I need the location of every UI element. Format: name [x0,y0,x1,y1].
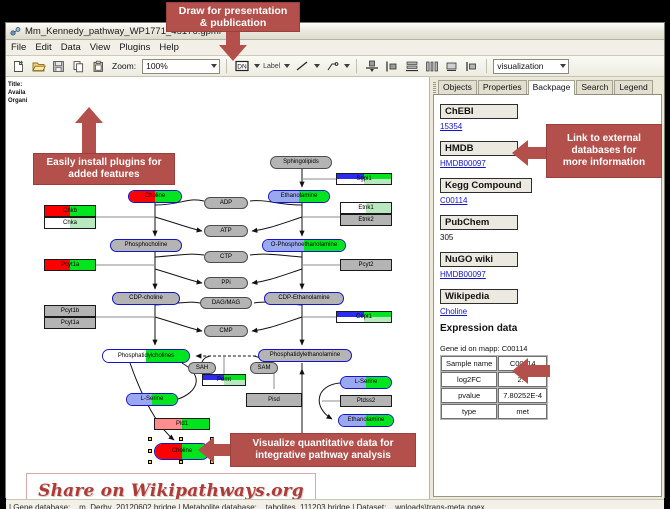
node-label: Ptdss2 [357,398,375,405]
link-callout-arrow-icon [512,140,550,166]
table-cell-key: log2FC [441,372,497,387]
pathway-gene-node[interactable]: Pcyt1b [44,305,96,317]
group-icon[interactable] [443,58,460,75]
pathway-metabolite-node[interactable]: SAH [188,362,216,374]
pathway-metabolite-node[interactable]: CMP [204,325,248,337]
tab-backpage[interactable]: Backpage [528,80,576,95]
copy-icon[interactable] [70,58,87,75]
chevron-down-icon [560,64,566,68]
interaction-icon[interactable] [323,58,340,75]
application-window: Mm_Kennedy_pathway_WP1771_45176.gpml Fil… [5,22,665,498]
section-header-hmdb: HMDB [440,141,518,156]
share-box: Share on Wikipathways.org [26,473,316,499]
pathway-metabolite-node[interactable]: O-Phosphoethanolamine [262,239,346,252]
open-folder-icon[interactable] [30,58,47,75]
table-cell-value: 7.80252E-4 [498,388,547,403]
pathway-gene-node[interactable]: Chka [44,217,96,229]
node-label: CDP-Ethanolamine [278,295,329,302]
expression-callout-arrow-icon [512,358,550,384]
pubchem-value: 305 [440,233,655,242]
visualize-callout-text: Visualize quantitative data for integrat… [253,438,394,462]
tab-grip-icon[interactable] [433,82,436,94]
table-cell-key: pvalue [441,388,497,403]
visualize-callout-arrow-icon [198,437,234,463]
section-header-chebi: ChEBI [440,104,518,119]
expression-data-title: Expression data [440,323,655,334]
node-label: Ethanolamine [281,193,318,200]
table-cell-value: met [498,404,547,419]
menu-item-plugins[interactable]: Plugins [119,42,150,53]
node-label: Chkb [63,208,77,215]
tab-legend[interactable]: Legend [614,80,652,94]
pathway-metabolite-node[interactable]: CDP-Ethanolamine [264,292,344,305]
toolbar-separator [486,59,487,73]
table-row: typemet [441,404,547,419]
datanode-dropdown-icon[interactable] [254,64,260,68]
selection-handle[interactable] [148,460,152,464]
pathway-gene-node[interactable]: Ptdss2 [340,395,392,407]
backpage-section: Kegg Compound C00114 [440,175,655,205]
node-label: SAH [196,365,208,372]
paste-icon[interactable] [90,58,107,75]
selection-handle[interactable] [179,460,183,464]
node-label: PPi [221,280,230,287]
menu-item-data[interactable]: Data [61,42,81,53]
node-label: Phosphatidylethanolamine [270,352,340,359]
pathway-metabolite-node[interactable]: Choline [128,190,182,203]
section-header-kegg: Kegg Compound [440,178,532,193]
pathvisio-icon [10,26,21,37]
pathway-gene-node[interactable]: Pisd [246,393,302,407]
distribute-icon[interactable] [423,58,440,75]
pathway-metabolite-node[interactable]: CTP [204,251,248,263]
node-label: CDP-choline [129,295,163,302]
link-callout: Link to external databases for more info… [546,124,662,178]
zoom-value: 100% [143,61,168,71]
pathway-gene-node[interactable]: Pcyt1a [44,317,96,329]
node-label: Pcyt1a [61,320,79,327]
node-label: Chka [63,220,77,227]
node-label: ATP [220,228,231,235]
line-dropdown-icon[interactable] [314,64,320,68]
draw-callout-text: Draw for presentation & publication [179,5,288,29]
menu-item-view[interactable]: View [90,42,110,53]
pathway-metabolite-node[interactable]: CDP-choline [112,292,180,305]
selection-handle[interactable] [179,437,183,441]
node-label: SAM [257,365,270,372]
wikipedia-link[interactable]: Choline [440,307,655,316]
node-label: L-Serine [141,396,164,403]
status-bar: | Gene database: ...m_Derby_20120602.bri… [6,499,664,509]
share-box-text: Share on Wikipathways.org [38,481,304,499]
visualize-callout: Visualize quantitative data for integrat… [230,433,416,467]
pathway-metabolite-node[interactable]: ATP [204,225,248,237]
label-dropdown-icon[interactable] [284,64,290,68]
plugins-callout: Easily install plugins for added feature… [33,153,175,185]
node-label: Sgpl1 [356,176,371,183]
node-label: O-Phosphoethanolamine [271,242,337,249]
pathway-metabolite-node[interactable]: SAM [250,362,278,374]
title-bar: Mm_Kennedy_pathway_WP1771_45176.gpml [6,23,664,40]
menu-item-edit[interactable]: Edit [35,42,51,53]
pathway-gene-node[interactable]: Pcyt2 [340,259,392,271]
pathway-canvas[interactable]: Title: Availa Organi [6,77,430,499]
zoom-label: Zoom: [112,61,136,71]
node-label: Pcyt1a [61,262,79,269]
align-top-icon[interactable] [363,58,380,75]
align-left-icon[interactable] [383,58,400,75]
toolbar-separator [356,59,357,73]
pathway-gene-node[interactable]: Pemt [202,374,246,386]
node-label: Phosphocholine [125,242,168,249]
label-tool-label[interactable]: Label [263,63,280,70]
node-label: Sphingolipids [283,159,319,166]
section-header-nugo: NuGO wiki [440,252,518,267]
node-label: Choline [172,448,192,455]
screenshot-root: Mm_Kennedy_pathway_WP1771_45176.gpml Fil… [0,0,670,509]
new-icon[interactable] [10,58,27,75]
tab-properties[interactable]: Properties [478,80,527,94]
pathway-metabolite-node[interactable]: Ethanolamine [338,414,394,427]
pathway-metabolite-node[interactable]: Phosphatidylcholines [102,349,190,363]
visualization-value: visualization [494,61,543,71]
node-label: Phosphatidylcholines [118,353,174,360]
table-cell-key: Sample name [441,356,497,371]
node-label: Cept1 [356,314,372,321]
node-label: Pemt [217,377,231,384]
pathway-metabolite-node[interactable]: DAG/MAG [200,297,252,309]
pathway-gene-node[interactable]: Sgpl1 [336,173,392,185]
toolbar-separator [226,59,227,73]
pathway-gene-node[interactable]: Cept1 [336,311,392,323]
plugins-callout-arrow-icon [72,107,106,157]
node-label: Etnk2 [358,217,373,224]
node-label: Pisd [268,397,280,404]
node-label: Ethanolamine [348,417,385,424]
draw-callout: Draw for presentation & publication [166,2,300,32]
sidebar-tabs: Objects Properties Backpage Search Legen… [433,80,662,95]
node-label: CMP [219,328,232,335]
svg-text:DN: DN [237,63,247,70]
plugins-callout-text: Easily install plugins for added feature… [46,157,161,181]
pathway-metabolite-node[interactable]: Sphingolipids [270,156,332,169]
node-label: ADP [220,200,232,207]
node-label: Pcyt2 [358,262,373,269]
pathway-metabolite-node[interactable]: ADP [204,197,248,209]
backpage-section: PubChem 305 [440,212,655,242]
node-label: Pcyt1b [61,308,79,315]
kegg-link[interactable]: C00114 [440,196,655,205]
pathway-metabolite-node[interactable]: PPi [204,277,248,289]
status-text: | Gene database: ...m_Derby_20120602.bri… [9,503,485,509]
table-cell-key: type [441,404,497,419]
chevron-down-icon [211,64,217,68]
menu-item-file[interactable]: File [11,42,26,53]
menu-item-help[interactable]: Help [159,42,179,53]
selection-handle[interactable] [148,437,152,441]
node-label: Choline [145,193,165,200]
backpage-section: NuGO wiki HMDB00097 [440,249,655,279]
save-disk-icon[interactable] [50,58,67,75]
tab-search[interactable]: Search [576,80,613,94]
pathway-gene-node[interactable]: Pcyt1a [44,259,96,271]
table-row: pvalue7.80252E-4 [441,388,547,403]
pathway-gene-node[interactable]: Pld1 [154,418,210,430]
node-label: L-Serine [355,379,378,386]
toolbar: Zoom: 100% DN Label [6,56,664,77]
interaction-dropdown-icon[interactable] [344,64,350,68]
backpage-section: Wikipedia Choline [440,286,655,316]
stack-icon[interactable] [403,58,420,75]
zoom-combo[interactable]: 100% [142,59,220,74]
pathway-metabolite-node[interactable]: Phosphocholine [110,239,182,252]
menu-bar: File Edit Data View Plugins Help [6,40,664,56]
pathway-metabolite-node[interactable]: Phosphatidylethanolamine [258,349,352,362]
pathway-gene-node[interactable]: Etnk1 [340,202,392,214]
tab-objects[interactable]: Objects [438,80,477,94]
nugo-link[interactable]: HMDB00097 [440,270,655,279]
pathway-metabolite-node[interactable]: Ethanolamine [268,190,330,203]
section-header-pubchem: PubChem [440,215,518,230]
selection-handle[interactable] [148,449,152,453]
visualization-combo[interactable]: visualization [493,59,569,74]
pathway-metabolite-node[interactable]: L-Serine [126,393,178,406]
node-label: Pld1 [176,421,188,428]
section-header-wikipedia: Wikipedia [440,289,518,304]
pathway-gene-node[interactable]: Etnk2 [340,214,392,226]
gene-id-line: Gene id on mapp: C00114 [440,344,655,353]
pathway-metabolite-node[interactable]: L-Serine [340,376,392,389]
link-callout-text: Link to external databases for more info… [563,133,645,169]
pathway-gene-node[interactable]: Chkb [44,205,96,217]
line-icon[interactable] [293,58,310,75]
node-label: DAG/MAG [212,300,240,307]
node-label: Etnk1 [358,205,373,212]
order-icon[interactable] [463,58,480,75]
draw-callout-arrow-icon [216,31,250,61]
node-label: CTP [220,254,232,261]
